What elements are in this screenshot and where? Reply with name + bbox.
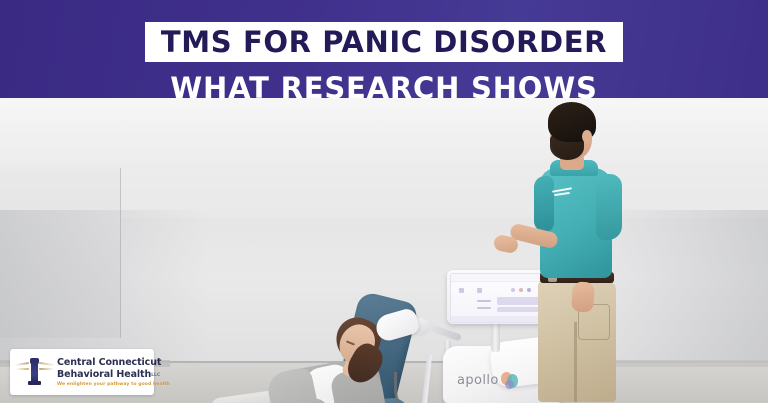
standing-technician [534, 102, 660, 402]
title-line-2: WHAT RESEARCH SHOWS [0, 71, 768, 105]
logo-text-block: Central Connecticut Behavioral HealthLLC… [55, 357, 149, 386]
company-logo-badge[interactable]: Central Connecticut Behavioral HealthLLC… [10, 349, 154, 395]
screen-dot-a [511, 288, 515, 292]
logo-tagline: We enlighten your pathway to good health [57, 382, 149, 387]
title-banner: TMS FOR PANIC DISORDER WHAT RESEARCH SHO… [0, 22, 768, 105]
screen-topbar [451, 274, 545, 282]
title-highlight-box: TMS FOR PANIC DISORDER [145, 22, 623, 62]
apollo-blob-icon [501, 372, 518, 389]
console-monitor[interactable] [447, 270, 547, 324]
logo-line-2: Behavioral HealthLLC [57, 369, 149, 380]
apollo-brand-label: apollo [457, 373, 499, 388]
technician-ear [582, 130, 592, 143]
console-screen[interactable] [450, 273, 546, 323]
technician-sleeve-right [596, 174, 622, 240]
screen-field-a[interactable] [497, 297, 539, 305]
screen-field-b[interactable] [497, 307, 539, 312]
logo-line-2-text: Behavioral Health [57, 369, 151, 380]
screen-label-b [477, 307, 491, 309]
technician-leg-seam [574, 322, 577, 402]
screen-bottombar [451, 316, 545, 322]
apollo-brand-mark: apollo [457, 369, 533, 391]
screen-label-a [477, 300, 491, 302]
screen-dot-b [519, 288, 523, 292]
logo-suffix: LLC [151, 373, 160, 378]
title-line-1: TMS FOR PANIC DISORDER [161, 28, 607, 57]
coil-head [373, 307, 421, 344]
screen-icon-a [459, 288, 464, 293]
monitor-stem [491, 320, 500, 352]
screen-dot-c [527, 288, 531, 292]
technician-sleeve-left [534, 176, 554, 232]
technician-hand-right [571, 281, 595, 312]
technician-shirt-logo-icon [552, 186, 574, 198]
logo-line-1: Central Connecticut [57, 357, 149, 368]
promo-graphic: apollo [0, 0, 768, 403]
screen-icon-b [477, 288, 482, 293]
lighthouse-icon [15, 355, 55, 389]
